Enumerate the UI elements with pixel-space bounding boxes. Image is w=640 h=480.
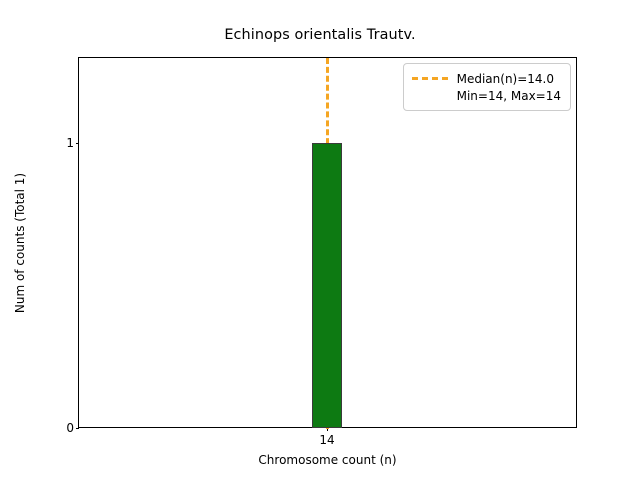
- chromosome-count-chart: Echinops orientalis Trautv. Num of count…: [0, 0, 640, 480]
- bar-14[interactable]: [312, 143, 342, 428]
- x-tick-label-14: 14: [319, 433, 334, 447]
- legend-entry-minmax: Min=14, Max=14: [412, 87, 561, 104]
- legend-label-median: Median(n)=14.0: [457, 72, 554, 86]
- chart-title: Echinops orientalis Trautv.: [0, 27, 640, 43]
- blank-handle-icon: [412, 94, 448, 97]
- legend-entry-median: Median(n)=14.0: [412, 70, 561, 87]
- y-tick-mark-0: [76, 428, 80, 429]
- y-tick-label-0: 0: [66, 421, 74, 435]
- plot-area: 0 1 14 Median(n)=14.0 Min=14, Max=14: [78, 57, 577, 428]
- y-axis-label: Num of counts (Total 1): [0, 57, 40, 428]
- dashed-line-icon: [412, 77, 448, 80]
- legend-label-minmax: Min=14, Max=14: [457, 89, 561, 103]
- y-axis-label-text: Num of counts (Total 1): [13, 172, 27, 312]
- y-tick-label-1: 1: [66, 136, 74, 150]
- legend: Median(n)=14.0 Min=14, Max=14: [403, 63, 571, 111]
- y-tick-mark-1: [76, 143, 80, 144]
- x-axis-label: Chromosome count (n): [78, 453, 577, 467]
